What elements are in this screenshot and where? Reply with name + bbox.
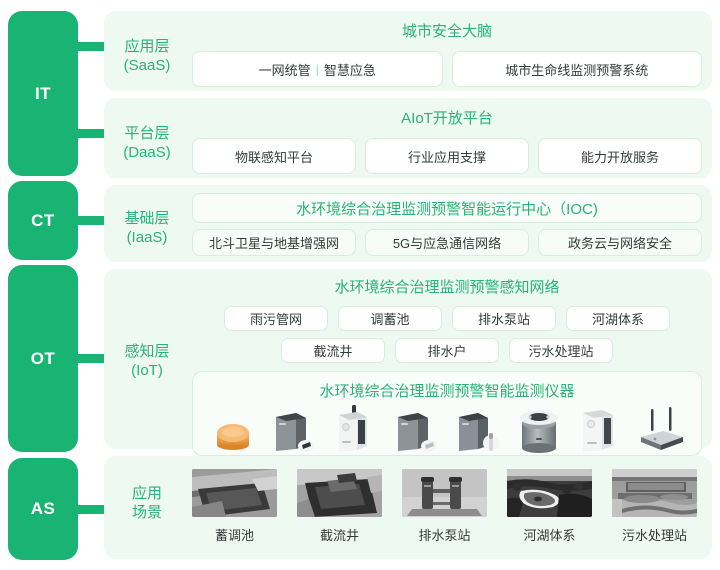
layer-label-daas-line1: 平台层 xyxy=(124,125,169,142)
layer-row-iaas: 基础层 (IaaS) 水环境综合治理监测预警智能运行中心（IOC) 北斗卫星与地… xyxy=(104,185,712,262)
iot-tag-2-text: 调蓄池 xyxy=(370,309,409,328)
layer-label-scene-line1: 应用 xyxy=(132,485,162,502)
scene-item-river-lake[interactable]: 河湖体系 xyxy=(507,469,592,544)
device-router-gateway-icon[interactable] xyxy=(633,401,689,455)
iot-tag-5-text: 截流井 xyxy=(313,341,352,360)
iot-tag-drainage-user[interactable]: 排水户 xyxy=(395,338,499,363)
section-title-smart-monitoring-instruments: 水环境综合治理监测预警智能监测仪器 xyxy=(193,380,701,401)
saas-box-1-text2: 智慧应急 xyxy=(324,60,376,79)
layer-label-iot-line2: (IoT) xyxy=(104,361,190,380)
iot-tag-4-text: 河湖体系 xyxy=(592,309,644,328)
connector-it-daas xyxy=(78,129,104,138)
iaas-banner-text: 水环境综合治理监测预警智能运行中心（IOC) xyxy=(296,198,598,219)
layer-label-saas-line2: (SaaS) xyxy=(104,56,190,75)
scene-photo-storage-tank xyxy=(192,469,277,517)
daas-box-2-text: 行业应用支撑 xyxy=(408,147,486,166)
iot-device-panel: 水环境综合治理监测预警智能监测仪器 xyxy=(192,371,702,456)
scene-caption-storage-tank: 蓄调池 xyxy=(192,525,277,544)
layer-label-saas: 应用层 (SaaS) xyxy=(104,37,190,75)
pillar-it-label: IT xyxy=(35,84,51,104)
iot-tag-1-text: 雨污管网 xyxy=(250,309,302,328)
layer-label-saas-line1: 应用层 xyxy=(124,38,169,55)
daas-box-capability-service[interactable]: 能力开放服务 xyxy=(538,138,702,174)
daas-box-industry-support[interactable]: 行业应用支撑 xyxy=(365,138,529,174)
layer-label-iaas-line1: 基础层 xyxy=(124,210,169,227)
layer-content-scene: 蓄调池 xyxy=(192,456,702,559)
section-title-sensing-network: 水环境综合治理监测预警感知网络 xyxy=(192,280,702,295)
connector-it-saas xyxy=(78,42,104,51)
layer-content-iaas: 水环境综合治理监测预警智能运行中心（IOC) 北斗卫星与地基增强网 5G与应急通… xyxy=(192,185,702,262)
daas-box-iot-sensing-platform[interactable]: 物联感知平台 xyxy=(192,138,356,174)
connector-ct-iaas xyxy=(78,216,104,225)
layer-content-iot: 水环境综合治理监测预警感知网络 雨污管网 调蓄池 排水泵站 河湖体系 截流井 xyxy=(192,269,702,449)
scene-item-sewage-plant[interactable]: 污水处理站 xyxy=(612,469,697,544)
connector-as-scene xyxy=(78,505,104,514)
device-white-cabinet-sensor-icon[interactable] xyxy=(572,401,628,455)
scene-caption-interception-well: 截流井 xyxy=(297,525,382,544)
iaas-box-beidou-network[interactable]: 北斗卫星与地基增强网 xyxy=(192,229,356,256)
iot-tag-row-2: 截流井 排水户 污水处理站 xyxy=(192,338,702,363)
iot-tag-rain-sewage-pipe[interactable]: 雨污管网 xyxy=(224,306,328,331)
scene-caption-sewage-plant: 污水处理站 xyxy=(612,525,697,544)
saas-box-2-text: 城市生命线监测预警系统 xyxy=(505,60,648,79)
iot-tag-row-1: 雨污管网 调蓄池 排水泵站 河湖体系 xyxy=(192,306,702,331)
pillar-ct-label: CT xyxy=(31,211,55,231)
layer-row-daas: 平台层 (DaaS) AIoT开放平台 物联感知平台 行业应用支撑 能力开放服务 xyxy=(104,98,712,178)
layer-label-daas-line2: (DaaS) xyxy=(104,143,190,162)
layer-label-iaas-line2: (IaaS) xyxy=(104,228,190,247)
iaas-box-govcloud-security[interactable]: 政务云与网络安全 xyxy=(538,229,702,256)
scene-caption-river-lake: 河湖体系 xyxy=(507,525,592,544)
saas-box-lifeline-system[interactable]: 城市生命线监测预警系统 xyxy=(452,51,703,87)
scene-item-storage-tank[interactable]: 蓄调池 xyxy=(192,469,277,544)
iot-tag-7-text: 污水处理站 xyxy=(528,341,593,360)
layer-row-saas: 应用层 (SaaS) 城市安全大脑 一网统管 | 智慧应急 城市生命线监测预警系… xyxy=(104,11,712,91)
iaas-banner-ioc[interactable]: 水环境综合治理监测预警智能运行中心（IOC) xyxy=(192,193,702,223)
section-title-aiot-platform: AIoT开放平台 xyxy=(192,111,702,126)
device-dark-sensor-box-2-icon[interactable] xyxy=(388,401,444,455)
iot-tag-river-lake-system[interactable]: 河湖体系 xyxy=(566,306,670,331)
iot-tag-storage-tank[interactable]: 调蓄池 xyxy=(338,306,442,331)
layer-label-daas: 平台层 (DaaS) xyxy=(104,124,190,162)
saas-box-1-text: 一网统管 xyxy=(259,60,311,79)
layer-content-saas: 城市安全大脑 一网统管 | 智慧应急 城市生命线监测预警系统 xyxy=(192,11,702,91)
daas-box-row: 物联感知平台 行业应用支撑 能力开放服务 xyxy=(192,138,702,174)
device-orange-dome-sensor-icon[interactable] xyxy=(205,401,261,455)
layer-label-iaas: 基础层 (IaaS) xyxy=(104,209,190,247)
iot-tag-interception-well[interactable]: 截流井 xyxy=(281,338,385,363)
layer-label-iot: 感知层 (IoT) xyxy=(104,342,190,380)
pillar-it[interactable]: IT xyxy=(8,11,78,176)
daas-box-1-text: 物联感知平台 xyxy=(235,147,313,166)
connector-ot-iot xyxy=(78,354,104,363)
device-white-handheld-meter-icon[interactable] xyxy=(327,401,383,455)
iot-tag-3-text: 排水泵站 xyxy=(478,309,530,328)
iot-tag-sewage-treatment-station[interactable]: 污水处理站 xyxy=(509,338,613,363)
section-title-city-safety-brain: 城市安全大脑 xyxy=(192,24,702,39)
pillar-ot-label: OT xyxy=(31,349,56,369)
device-dark-sensor-box-icon[interactable] xyxy=(266,401,322,455)
iaas-box-row: 北斗卫星与地基增强网 5G与应急通信网络 政务云与网络安全 xyxy=(192,229,702,256)
pillar-ct[interactable]: CT xyxy=(8,181,78,260)
iaas-box-5g-emergency-network[interactable]: 5G与应急通信网络 xyxy=(365,229,529,256)
pillar-ot[interactable]: OT xyxy=(8,265,78,452)
scene-photo-interception-well xyxy=(297,469,382,517)
iot-device-strip xyxy=(193,401,701,455)
iot-tag-drainage-pump-station[interactable]: 排水泵站 xyxy=(452,306,556,331)
layer-label-iot-line1: 感知层 xyxy=(124,343,169,360)
layer-row-iot: 感知层 (IoT) 水环境综合治理监测预警感知网络 雨污管网 调蓄池 排水泵站 … xyxy=(104,269,712,449)
pillar-as-label: AS xyxy=(31,499,56,519)
scene-item-interception-well[interactable]: 截流井 xyxy=(297,469,382,544)
iaas-box-3-text: 政务云与网络安全 xyxy=(568,233,672,252)
saas-box-1-separator: | xyxy=(316,62,319,76)
layer-row-scene: 应用 场景 xyxy=(104,456,712,559)
device-dark-sensor-box-slim-icon[interactable] xyxy=(450,401,506,455)
daas-box-3-text: 能力开放服务 xyxy=(581,147,659,166)
scene-item-pump-station[interactable]: 排水泵站 xyxy=(402,469,487,544)
scene-photo-pump-station xyxy=(402,469,487,517)
saas-box-unified-governance[interactable]: 一网统管 | 智慧应急 xyxy=(192,51,443,87)
device-manhole-cylinder-sensor-icon[interactable] xyxy=(511,401,567,455)
layer-label-scene-line2: 场景 xyxy=(104,503,190,522)
iaas-box-1-text: 北斗卫星与地基增强网 xyxy=(209,233,339,252)
layer-content-daas: AIoT开放平台 物联感知平台 行业应用支撑 能力开放服务 xyxy=(192,98,702,178)
pillar-as[interactable]: AS xyxy=(8,458,78,560)
saas-box-row: 一网统管 | 智慧应急 城市生命线监测预警系统 xyxy=(192,51,702,87)
scene-thumb-row: 蓄调池 xyxy=(192,469,702,544)
iot-tag-6-text: 排水户 xyxy=(427,341,466,360)
scene-caption-pump-station: 排水泵站 xyxy=(402,525,487,544)
scene-photo-sewage-plant xyxy=(612,469,697,517)
iaas-box-2-text: 5G与应急通信网络 xyxy=(393,233,501,252)
layer-label-scene: 应用 场景 xyxy=(104,484,190,522)
scene-photo-river-lake xyxy=(507,469,592,517)
architecture-diagram: IT CT OT AS 应用层 (SaaS) 城市安全大脑 一网统管 | 智慧应… xyxy=(0,0,720,570)
